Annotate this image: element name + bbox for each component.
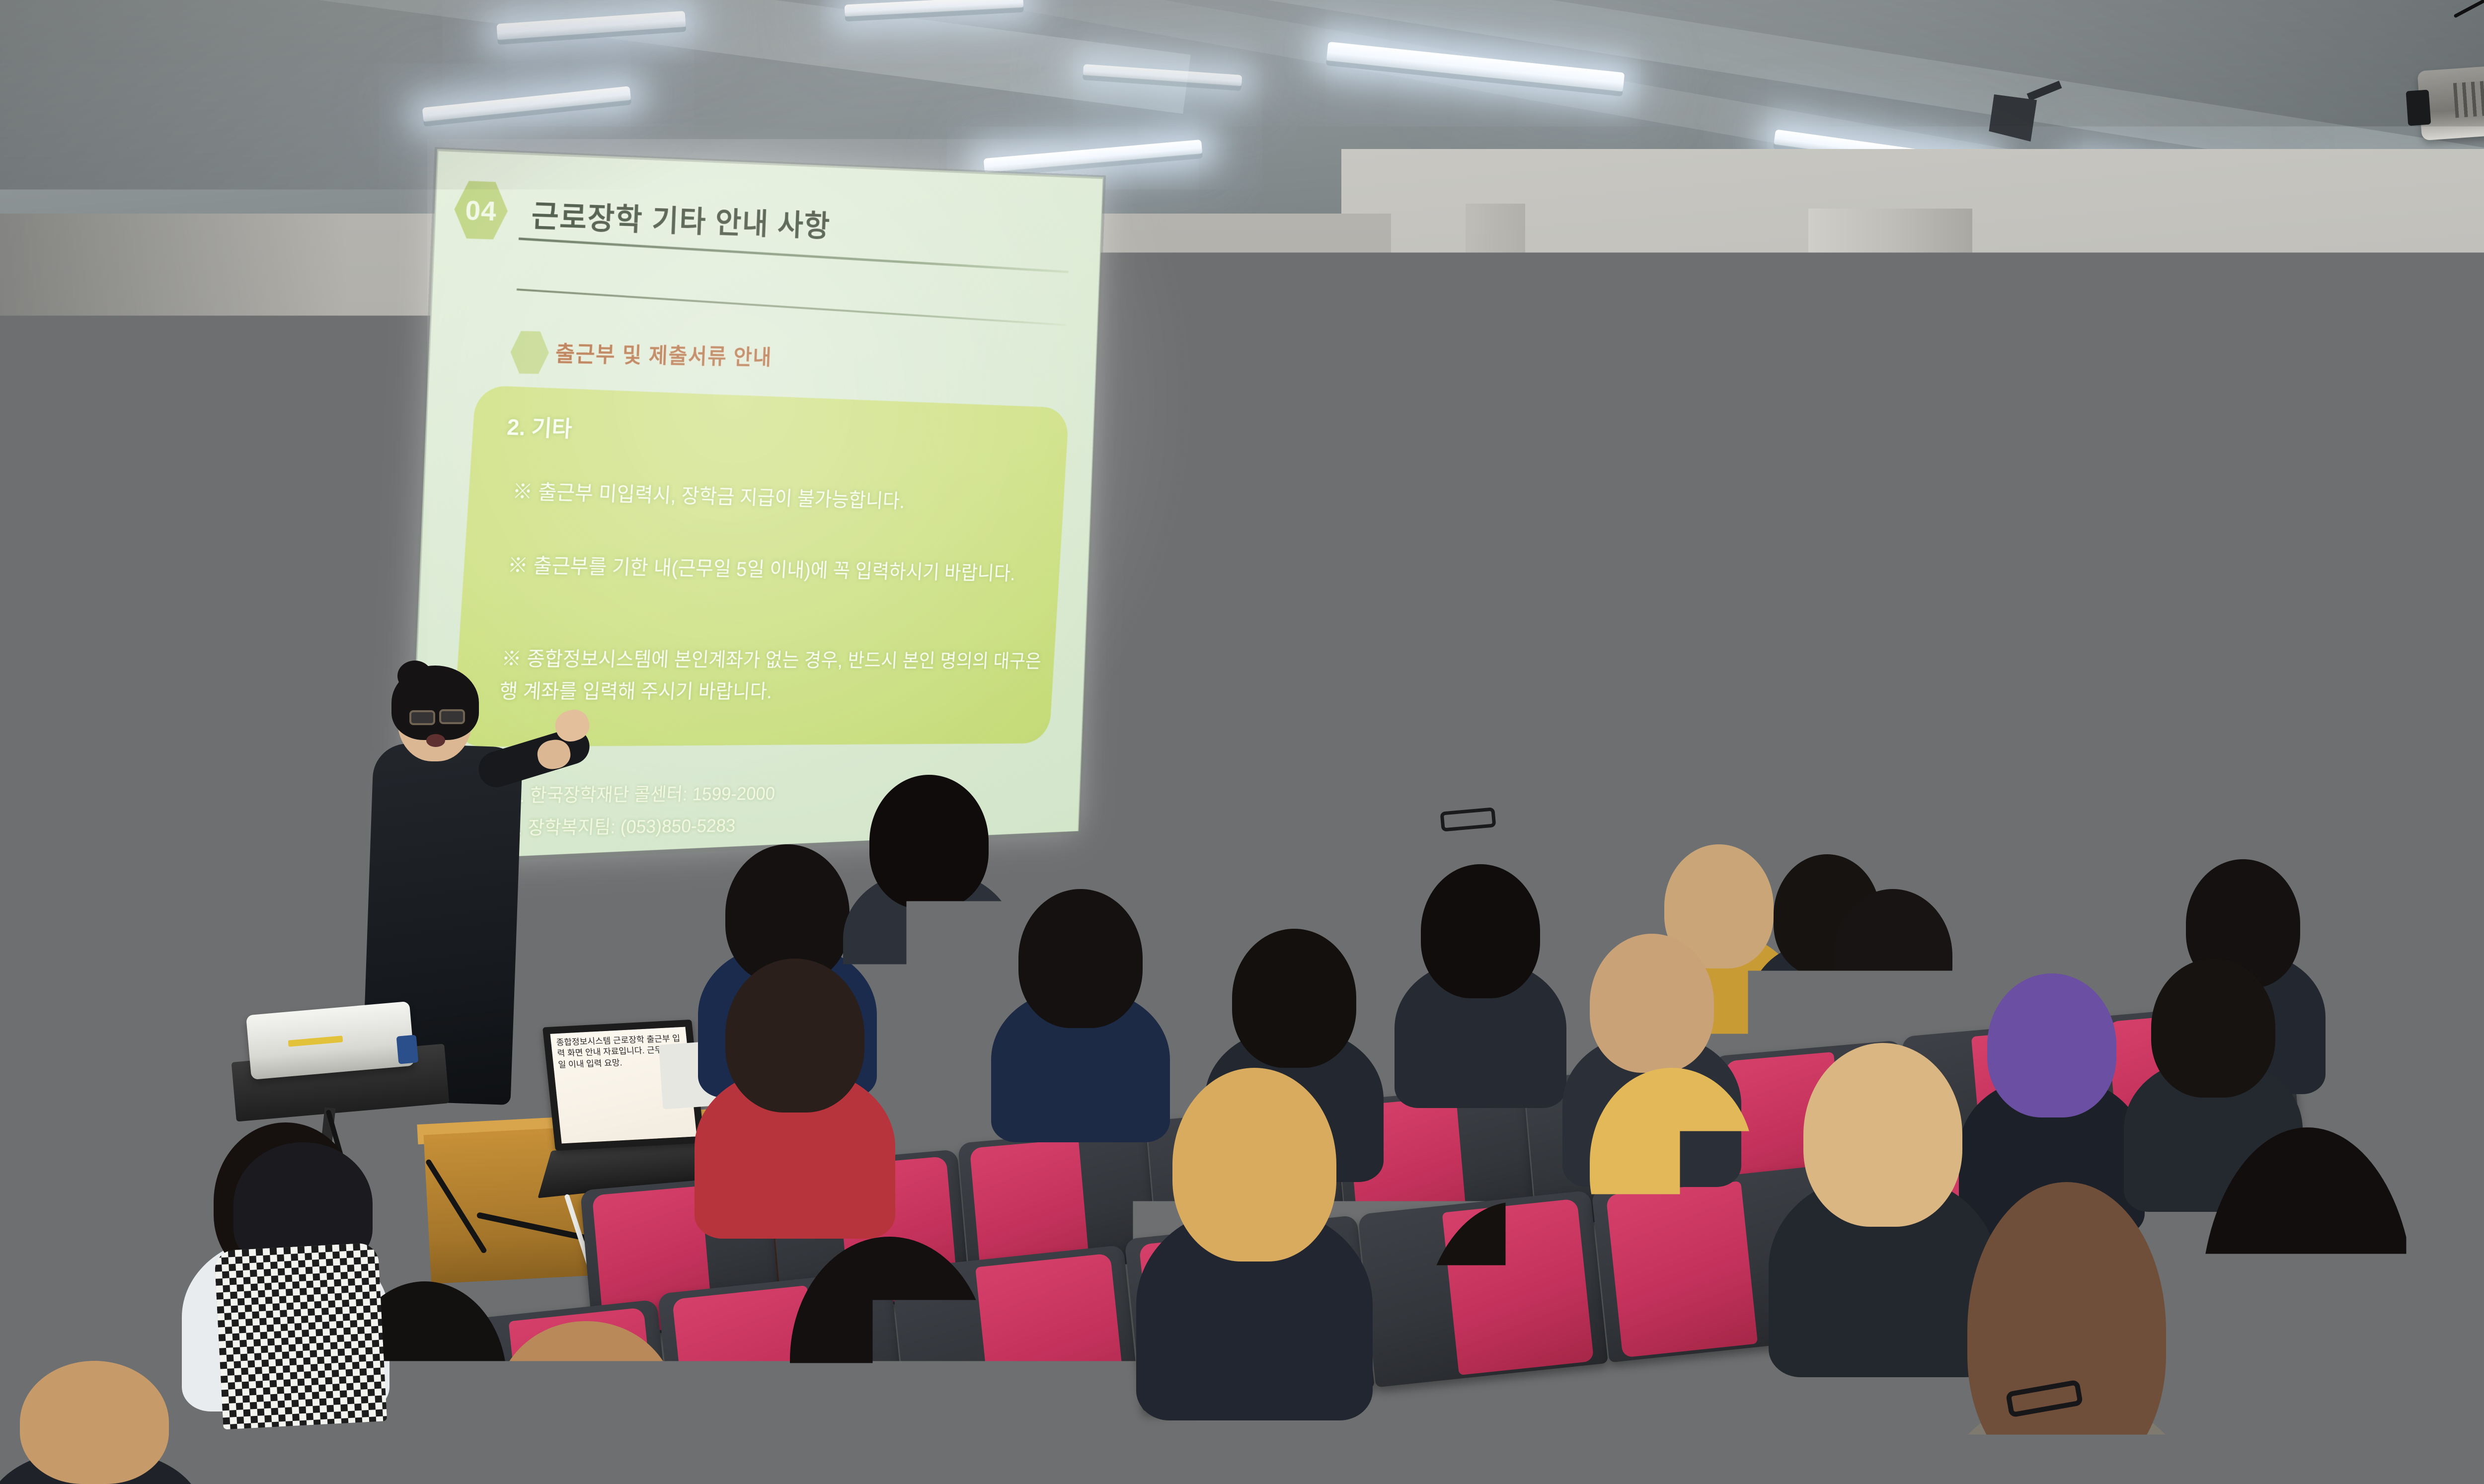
podium-microphone-icon <box>1976 565 1990 578</box>
portable-projector-lens <box>396 1035 419 1064</box>
speaker-center-hand <box>1621 599 1648 630</box>
audience-member <box>2201 1127 2414 1484</box>
houndstooth-coat <box>214 1243 387 1430</box>
slide-body-panel: 2. 기타 ※ 출근부 미입력시, 장학금 지급이 불가능합니다. ※ 출근부를… <box>452 385 1069 746</box>
exit-label: 비상구 <box>2297 723 2340 745</box>
speaker-center-mouth <box>1605 576 1618 586</box>
slide-section-number: 04 <box>465 194 497 227</box>
microphone-head <box>1628 567 1644 583</box>
speaker-center-hair <box>1570 556 1596 646</box>
audience-member <box>1833 889 1952 1023</box>
audience-member <box>869 775 989 909</box>
console-button[interactable] <box>1704 684 1721 692</box>
audience-member <box>1421 864 1540 998</box>
projector-lens <box>2406 89 2431 126</box>
audience-member <box>2474 1202 2484 1484</box>
audience-member <box>2151 959 2275 1098</box>
wall-socket <box>1504 629 1537 689</box>
audience-member <box>20 1361 169 1484</box>
audience-member <box>1967 1182 2166 1480</box>
audience-member <box>1232 929 1356 1068</box>
presenter-left-eyeglasses <box>439 709 465 724</box>
presenter-left-mouth <box>426 734 445 747</box>
audience-member <box>1803 1043 1962 1227</box>
audience-member <box>1987 973 2116 1117</box>
audience-member <box>1769 755 1863 864</box>
slide-title: 근로장학 기타 안내 사항 <box>531 191 831 245</box>
slide-divider <box>517 289 1067 326</box>
exit-arrow-icon: → <box>2343 724 2361 743</box>
slide-bullet: ※ 출근부 미입력시, 장학금 지급이 불가능합니다. <box>511 475 1051 520</box>
indicator-light <box>2255 797 2272 814</box>
audience-member <box>2429 815 2484 914</box>
slide-body-heading: 2. 기타 <box>506 409 573 444</box>
pa-speaker-icon <box>1650 327 1723 439</box>
slide-bullet: ※ 출근부를 기한 내(근무일 5일 이내)에 꼭 입력하시기 바랍니다. <box>507 549 1060 590</box>
audience-member <box>1590 1068 1754 1257</box>
slide-subtitle-hex <box>510 329 550 375</box>
window <box>2438 506 2484 587</box>
audience-member <box>725 959 864 1113</box>
console-button[interactable] <box>1728 682 1745 690</box>
audience-member <box>1580 735 1672 839</box>
eyeglasses-icon <box>854 1378 925 1407</box>
console-button[interactable] <box>1752 680 1769 688</box>
audience-member <box>497 1321 676 1484</box>
slide-subtitle: 출근부 및 제출서류 안내 <box>555 336 773 371</box>
audience-member <box>790 1237 989 1484</box>
audience-member <box>1590 934 1714 1073</box>
slide-section-hex: 04 <box>453 178 509 241</box>
lecture-hall-photo: 비상구 → 04 근로장학 기타 안내 사항 출근부 및 제출서류 안내 2. … <box>0 0 2484 1484</box>
staff-right-hair <box>1861 508 1924 557</box>
presenter-left-hairbun <box>397 661 432 691</box>
audience-member <box>1172 1068 1336 1261</box>
speaker-center-hand <box>1551 790 1578 815</box>
exit-sign: 비상구 → <box>2285 717 2372 751</box>
presenter-left-eyeglasses <box>409 710 435 725</box>
audience-member <box>1018 889 1143 1028</box>
indicator-light <box>2255 780 2272 797</box>
slide-bullet: ※ 종합정보시스템에 본인계좌가 없는 경우, 반드시 본인 명의의 대구은행 … <box>498 643 1055 707</box>
